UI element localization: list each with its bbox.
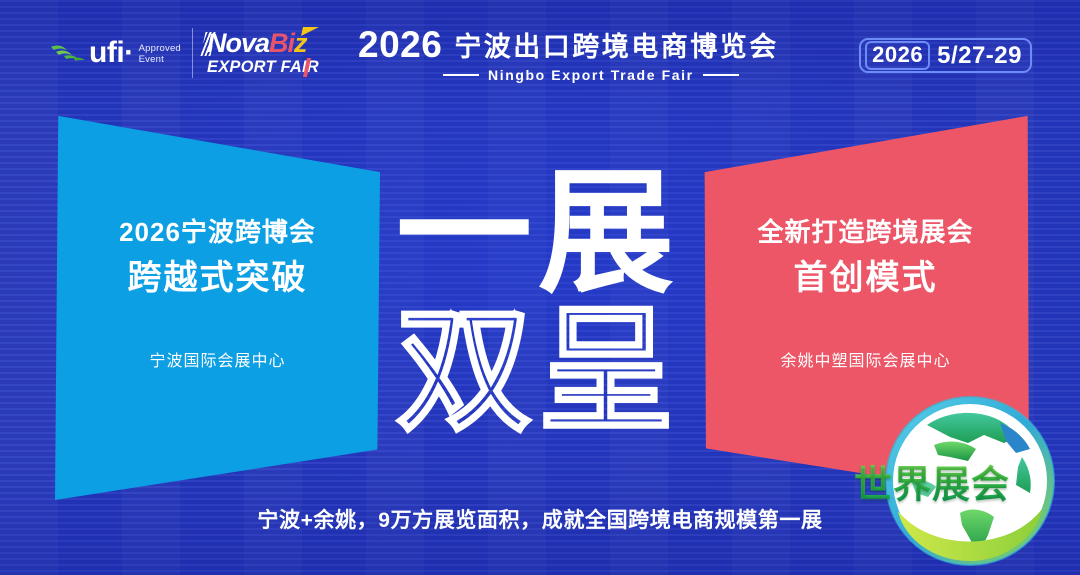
ufi-approved-line1: Approved [139, 43, 181, 54]
header-divider [192, 28, 193, 78]
novabiz-b-text: B [269, 28, 288, 58]
hero-slogan-outline: 双呈 [396, 300, 692, 442]
globe-watermark-label: 世界展会 [854, 454, 1010, 509]
right-panel-headline: 全新打造跨境展会 [702, 216, 1029, 248]
right-panel-venue: 余姚中塑国际会展中心 [702, 352, 1029, 372]
event-title-chinese: 宁波出口跨境电商博览会 [454, 32, 779, 64]
ufi-approved-line2: Event [139, 54, 164, 65]
ufi-wordmark: ufi· [89, 38, 134, 68]
event-title-row: 2026 宁波出口跨境电商博览会 [358, 26, 779, 64]
ufi-approved-text: Approved Event [139, 41, 181, 65]
left-panel-headline: 2026宁波跨博会 [55, 216, 380, 248]
hero-slogan-solid: 一展 [396, 162, 692, 304]
subtitle-rule-left [443, 74, 479, 76]
novabiz-nova-text: Nova [207, 28, 269, 58]
event-title-year: 2026 [358, 26, 442, 64]
event-title-block: 2026 宁波出口跨境电商博览会 Ningbo Export Trade Fai… [358, 26, 779, 83]
novabiz-wordmark: NovaBiz [207, 30, 337, 57]
event-title-english: Ningbo Export Trade Fair [488, 67, 694, 83]
left-panel-venue: 宁波国际会展中心 [55, 352, 380, 372]
subtitle-rule-right [703, 74, 739, 76]
event-subtitle-row: Ningbo Export Trade Fair [443, 67, 779, 83]
novabiz-subtitle: EXPORT FAIR [207, 58, 337, 76]
event-banner: ufi· Approved Event NovaBiz EXPORT FAIR … [0, 0, 1080, 575]
novabiz-flag-icon [301, 27, 319, 36]
ufi-leaf-icon [50, 42, 88, 64]
ufi-logo: ufi· Approved Event [50, 36, 181, 70]
novabiz-logo: NovaBiz EXPORT FAIR [207, 30, 337, 78]
event-date-year: 2026 [865, 41, 930, 70]
globe-watermark: 世界展会 [872, 383, 1068, 575]
left-panel-slogan: 跨越式突破 [55, 257, 380, 299]
right-panel-slogan: 首创模式 [702, 257, 1029, 299]
banner-header: ufi· Approved Event NovaBiz EXPORT FAIR … [0, 0, 1080, 104]
event-date-range: 5/27-29 [937, 43, 1022, 69]
event-date-badge: 2026 5/27-29 [859, 38, 1032, 73]
left-venue-panel: 2026宁波跨博会 跨越式突破 宁波国际会展中心 [55, 112, 380, 500]
hero-slogan: 一展 双呈 [396, 162, 692, 442]
